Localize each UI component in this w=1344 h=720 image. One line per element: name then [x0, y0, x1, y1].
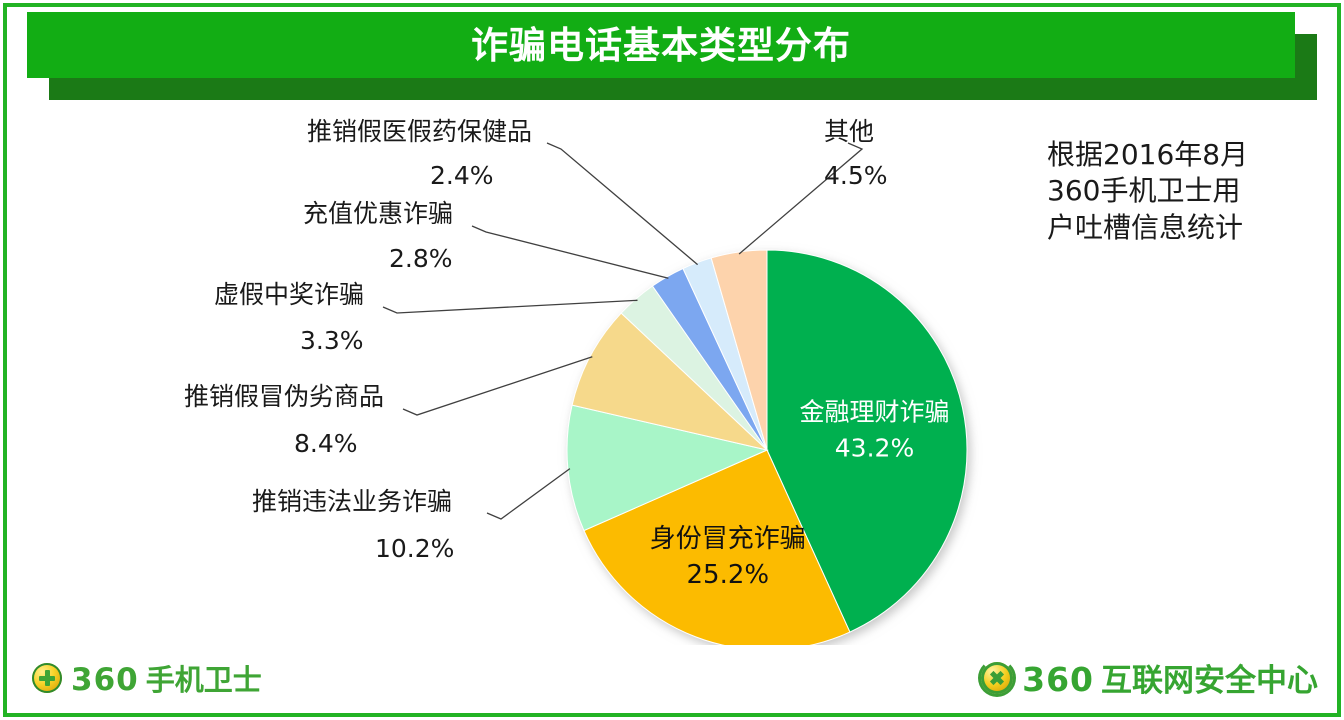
slide-page: 诈骗电话基本类型分布 金融理财诈骗43.2%身份冒充诈骗25.2%推销违法业务诈… — [0, 0, 1344, 720]
logo-360-internet-security-center[interactable]: 360 互联网安全中心 — [981, 655, 1318, 700]
pie-slice-label: 身份冒充诈骗 — [650, 524, 806, 554]
logo-left-number: 360 — [71, 662, 139, 698]
pie-slice-value: 3.3% — [300, 326, 364, 355]
title-banner-body: 诈骗电话基本类型分布 — [27, 12, 1295, 78]
pie-slice-label: 其他 — [824, 117, 874, 146]
pie-slice-value: 43.2% — [835, 434, 914, 463]
leader-line — [547, 143, 698, 265]
source-note-line-2: 360手机卫士用 — [1047, 173, 1307, 209]
360-wreath-icon — [981, 662, 1013, 694]
pie-slice-value: 10.2% — [375, 534, 454, 563]
source-note: 根据2016年8月 360手机卫士用 户吐槽信息统计 — [1047, 137, 1307, 246]
leader-line — [383, 300, 638, 313]
footer: 360 手机卫士 360 互联网安全中心 — [0, 645, 1344, 720]
pie-slice-label: 充值优惠诈骗 — [303, 199, 453, 228]
leader-line — [403, 357, 592, 415]
360-shield-icon — [32, 663, 62, 693]
logo-right-text: 360 互联网安全中心 — [1022, 655, 1318, 700]
pie-slice-label: 推销违法业务诈骗 — [252, 487, 452, 516]
pie-slice-value: 25.2% — [686, 560, 769, 590]
pie-slice-value: 2.4% — [430, 161, 494, 190]
pie-slice-label: 金融理财诈骗 — [799, 398, 949, 427]
logo-right-name: 互联网安全中心 — [1101, 655, 1318, 700]
logo-left-text: 360 手机卫士 — [71, 657, 262, 699]
page-title: 诈骗电话基本类型分布 — [471, 27, 851, 64]
pie-slice-label: 推销假冒伪劣商品 — [184, 382, 384, 411]
logo-left-name: 手机卫士 — [146, 657, 262, 699]
leader-line — [472, 226, 668, 278]
title-banner: 诈骗电话基本类型分布 — [27, 12, 1317, 100]
pie-slice-value: 4.5% — [824, 161, 888, 190]
logo-right-number: 360 — [1022, 660, 1094, 699]
pie-slice-label: 虚假中奖诈骗 — [214, 280, 364, 309]
source-note-line-3: 户吐槽信息统计 — [1047, 210, 1307, 246]
pie-slice-value: 2.8% — [389, 244, 453, 273]
pie-slice-label: 推销假医假药保健品 — [307, 117, 532, 146]
leader-line — [487, 469, 570, 519]
source-note-line-1: 根据2016年8月 — [1047, 137, 1307, 173]
logo-360-mobile-guard[interactable]: 360 手机卫士 — [32, 657, 262, 699]
pie-slice-value: 8.4% — [294, 429, 358, 458]
leader-line — [739, 143, 862, 254]
